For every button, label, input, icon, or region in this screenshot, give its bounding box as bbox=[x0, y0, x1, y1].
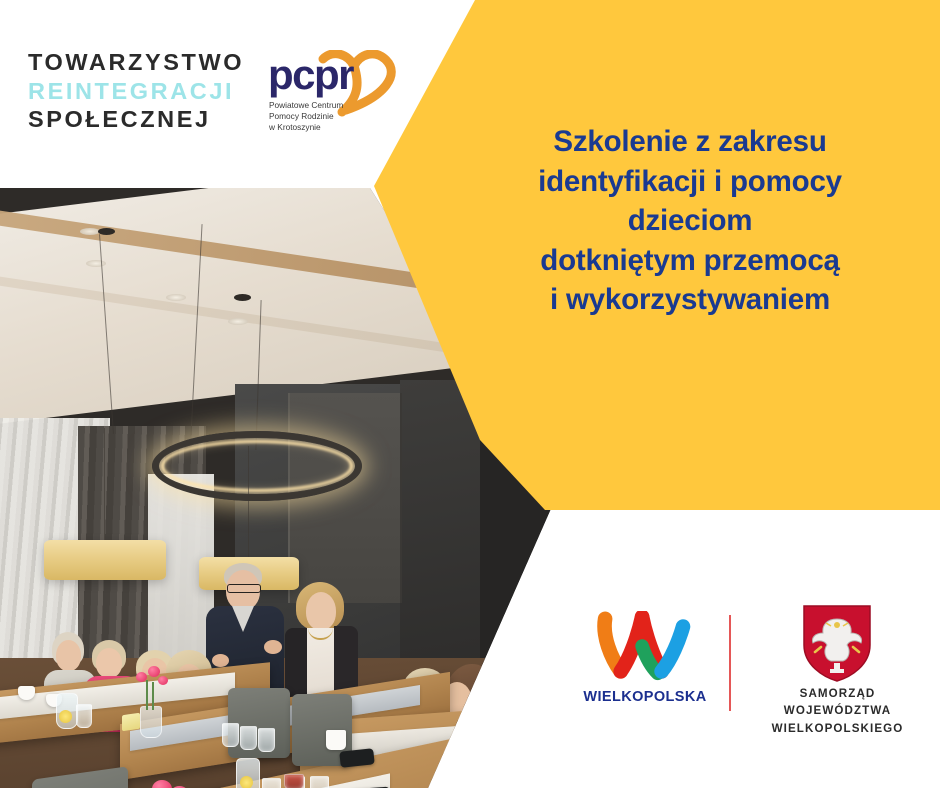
drinking-glass bbox=[258, 728, 275, 752]
logo-divider bbox=[729, 615, 731, 711]
coat-of-arms-icon bbox=[801, 603, 873, 683]
lemon-slice bbox=[240, 776, 253, 788]
trs-logo: TOWARZYSTWO REINTEGRACJI SPOŁECZNEJ bbox=[28, 48, 244, 134]
title-line-4: dotkniętym przemocą bbox=[470, 241, 910, 281]
wielkopolska-logo: WIELKOPOLSKA bbox=[575, 605, 715, 721]
trs-logo-line-1: TOWARZYSTWO bbox=[28, 48, 244, 77]
samorzad-logo: SAMORZĄD WOJEWÓDZTWA WIELKOPOLSKIEGO bbox=[755, 603, 920, 723]
samorzad-line-1: SAMORZĄD bbox=[755, 685, 920, 702]
wall-door-panel bbox=[288, 393, 402, 603]
title-line-1: Szkolenie z zakresu bbox=[470, 122, 910, 162]
drinking-glass bbox=[222, 723, 239, 747]
coffee-cup bbox=[326, 730, 346, 750]
page-title: Szkolenie z zakresu identyfikacji i pomo… bbox=[470, 122, 910, 320]
ceiling-spotlight bbox=[86, 260, 106, 267]
flower-stem bbox=[152, 682, 154, 710]
drum-lamp-wire bbox=[248, 446, 249, 558]
pendant-ceiling-mount bbox=[234, 294, 251, 301]
ceiling-spotlight bbox=[166, 294, 186, 301]
drinking-glass bbox=[284, 774, 304, 788]
flower-vase bbox=[140, 706, 162, 738]
samorzad-line-2: WOJEWÓDZTWA bbox=[755, 702, 920, 719]
wielkopolska-wordmark: WIELKOPOLSKA bbox=[575, 689, 715, 705]
drinking-glass bbox=[240, 726, 257, 750]
drum-lamp-wire bbox=[104, 428, 105, 542]
pcpr-wordmark: pcpr bbox=[268, 54, 353, 96]
lemon-slice bbox=[59, 710, 72, 723]
flower-bloom bbox=[158, 676, 168, 685]
flower-stem bbox=[146, 680, 148, 710]
seated-head bbox=[96, 648, 122, 678]
flower-bloom bbox=[148, 666, 160, 677]
poster-canvas: Szkolenie z zakresu identyfikacji i pomo… bbox=[0, 0, 940, 788]
title-line-2: identyfikacji i pomocy bbox=[470, 162, 910, 202]
pendant-ceiling-mount bbox=[98, 228, 115, 235]
presenter-glasses bbox=[227, 584, 261, 593]
pcpr-logo: pcpr Powiatowe Centrum Pomocy Rodzinie w… bbox=[268, 50, 398, 146]
napkin bbox=[122, 713, 140, 732]
presenter-hand bbox=[212, 654, 229, 667]
woman-head bbox=[306, 592, 336, 630]
flower-bloom bbox=[136, 672, 147, 682]
ring-pendant-lamp bbox=[152, 431, 362, 501]
trs-logo-line-2: REINTEGRACJI bbox=[28, 77, 244, 106]
drinking-glass bbox=[262, 778, 281, 788]
title-line-5: i wykorzystywaniem bbox=[470, 280, 910, 320]
drum-lamp bbox=[44, 540, 166, 580]
funding-logos: WIELKOPOLSKA SAMORZĄD WOJEWÓDZTWA WIELKO… bbox=[575, 598, 920, 728]
ceiling-spotlight bbox=[228, 318, 248, 325]
presenter-hand bbox=[264, 640, 282, 654]
samorzad-line-3: WIELKOPOLSKIEGO bbox=[755, 720, 920, 737]
ceiling-spotlight bbox=[80, 228, 100, 235]
title-line-3: dzieciom bbox=[470, 201, 910, 241]
seated-head bbox=[56, 640, 81, 671]
drinking-glass bbox=[76, 704, 92, 728]
pcpr-subtitle: Powiatowe Centrum Pomocy Rodzinie w Krot… bbox=[269, 100, 343, 134]
trs-logo-line-3: SPOŁECZNEJ bbox=[28, 105, 244, 134]
drinking-glass bbox=[310, 776, 329, 788]
wielkopolska-w-icon bbox=[597, 611, 695, 685]
samorzad-wordmark: SAMORZĄD WOJEWÓDZTWA WIELKOPOLSKIEGO bbox=[755, 685, 920, 737]
